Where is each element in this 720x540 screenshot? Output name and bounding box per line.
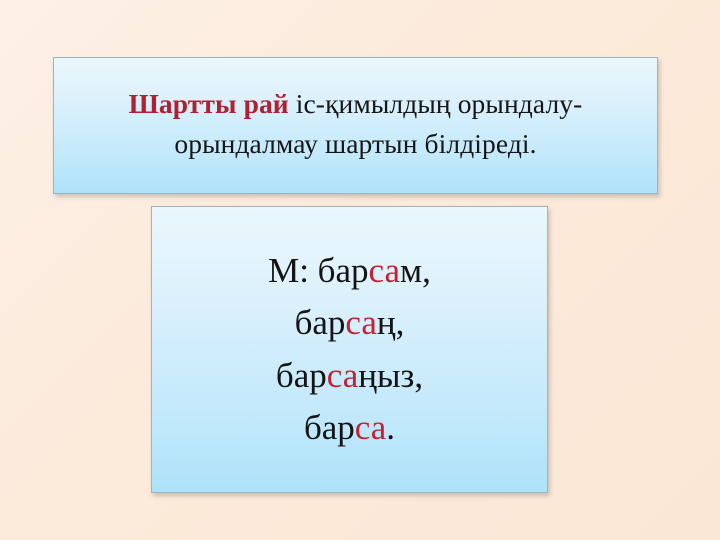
example-suffix: са <box>369 251 401 290</box>
examples-list: М: барсам, барсаң, барсаңыз, барса. <box>268 246 431 454</box>
example-suffix: са <box>355 408 387 447</box>
example-prefix: М: бар <box>268 251 368 290</box>
example-line: барсаңыз, <box>268 351 431 401</box>
example-suffix: са <box>327 356 359 395</box>
examples-panel: М: барсам, барсаң, барсаңыз, барса. <box>151 206 548 493</box>
example-prefix: бар <box>295 303 346 342</box>
definition-text: Шартты райіс-қимылдың орындалу-орындалма… <box>76 84 636 162</box>
example-prefix: бар <box>304 408 355 447</box>
example-line: барсаң, <box>268 298 431 348</box>
example-tail: ң, <box>377 303 404 342</box>
example-line: М: барсам, <box>268 246 431 296</box>
example-tail: . <box>386 408 395 447</box>
example-tail: ңыз, <box>358 356 423 395</box>
example-suffix: са <box>345 303 377 342</box>
definition-panel: Шартты райіс-қимылдың орындалу-орындалма… <box>53 57 658 194</box>
example-tail: м, <box>400 251 431 290</box>
example-prefix: бар <box>276 356 327 395</box>
grammar-term: Шартты рай <box>129 88 289 119</box>
slide-canvas: Шартты райіс-қимылдың орындалу-орындалма… <box>0 0 720 540</box>
example-line: барса. <box>268 403 431 453</box>
